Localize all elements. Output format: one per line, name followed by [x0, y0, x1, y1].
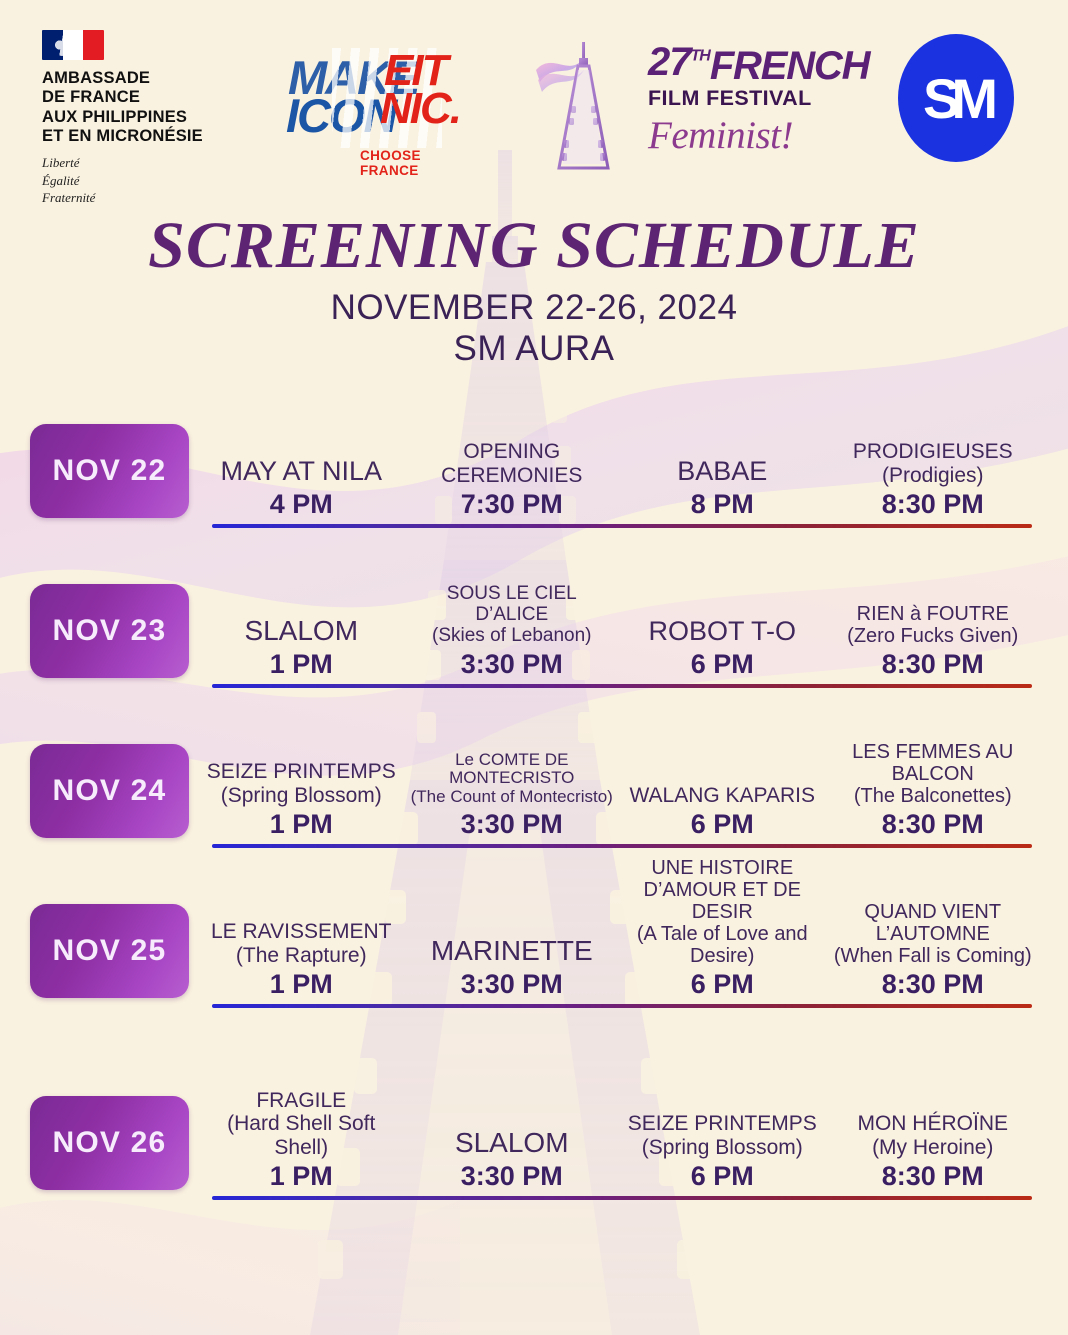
festival-feminist-tagline: Feminist! [648, 113, 843, 158]
film-subtitle: (The Balconettes) [832, 785, 1035, 807]
row-divider [212, 1004, 1032, 1008]
film-title: SEIZE PRINTEMPS [621, 1112, 824, 1135]
film-time: 6 PM [621, 968, 824, 1000]
date-badge[interactable]: NOV 26 [30, 1096, 189, 1190]
embassy-line-2: DE FRANCE [42, 88, 252, 107]
film-subtitle: (Spring Blossom) [621, 1136, 824, 1159]
sponsor-logo-bar: AMBASSADE DE FRANCE AUX PHILIPPINES ET E… [0, 0, 1068, 190]
film-title: FRAGILE [200, 1089, 403, 1112]
film-title: MAY AT NILA [200, 457, 403, 487]
motto-egalite: Égalité [42, 172, 252, 190]
film-time: 4 PM [200, 488, 403, 520]
french-flag-icon [42, 30, 104, 60]
page-title: SCREENING SCHEDULE [0, 212, 1068, 281]
film-entry[interactable]: WALANG KAPARIS6 PM [617, 784, 828, 840]
film-subtitle: (Skies of Lebanon) [411, 626, 614, 647]
edition-suffix: TH [691, 48, 710, 65]
festival-eiffel-tower-icon [530, 36, 640, 176]
embassy-motto: Liberté Égalité Fraternité [42, 154, 252, 207]
film-list: SLALOM1 PMSOUS LE CIEL D’ALICE(Skies of … [196, 584, 1038, 680]
film-entry[interactable]: QUAND VIENT L’AUTOMNE(When Fall is Comin… [828, 901, 1039, 1000]
edition-num: 27 [648, 40, 691, 84]
film-title: PRODIGIEUSES [832, 440, 1035, 463]
film-time: 1 PM [200, 808, 403, 840]
film-time: 1 PM [200, 1160, 403, 1192]
date-badge[interactable]: NOV 25 [30, 904, 189, 998]
film-time: 3:30 PM [411, 968, 614, 1000]
film-title: ROBOT T-O [621, 617, 824, 647]
film-time: 6 PM [621, 648, 824, 680]
film-subtitle: (When Fall is Coming) [832, 945, 1035, 967]
film-entry[interactable]: SLALOM3:30 PM [407, 1128, 618, 1192]
film-subtitle: (The Rapture) [200, 944, 403, 967]
film-time: 3:30 PM [411, 1160, 614, 1192]
film-entry[interactable]: SEIZE PRINTEMPS(Spring Blossom)6 PM [617, 1112, 828, 1192]
film-time: 1 PM [200, 968, 403, 1000]
sm-circle-shape: SM [898, 34, 1014, 162]
date-badge[interactable]: NOV 24 [30, 744, 189, 838]
sm-letters: SM [898, 34, 1014, 162]
date-badge[interactable]: NOV 22 [30, 424, 189, 518]
film-subtitle: (The Count of Montecristo) [411, 788, 614, 807]
film-subtitle: (Hard Shell Soft Shell) [200, 1112, 403, 1158]
french-embassy-logo: AMBASSADE DE FRANCE AUX PHILIPPINES ET E… [42, 30, 252, 207]
make-it-iconic-logo: MAKE ICON EIT NIC. CHOOSE FRANCE [288, 52, 478, 172]
film-entry[interactable]: BABAE8 PM [617, 457, 828, 520]
choose-france-tagline: CHOOSE FRANCE [360, 148, 478, 178]
film-title: OPENING CEREMONIES [411, 440, 614, 486]
film-time: 8:30 PM [832, 488, 1035, 520]
schedule-day-row: NOV 25LE RAVISSEMENT(The Rapture)1 PMMAR… [0, 904, 1068, 1054]
iconic-word-nic: NIC. [380, 84, 460, 134]
film-time: 6 PM [621, 808, 824, 840]
film-time: 1 PM [200, 648, 403, 680]
embassy-line-1: AMBASSADE [42, 69, 252, 88]
film-time: 8:30 PM [832, 808, 1035, 840]
film-time: 3:30 PM [411, 808, 614, 840]
film-title: MARINETTE [411, 936, 614, 967]
film-entry[interactable]: SOUS LE CIEL D’ALICE(Skies of Lebanon)3:… [407, 584, 618, 680]
film-entry[interactable]: OPENING CEREMONIES7:30 PM [407, 440, 618, 520]
motto-liberte: Liberté [42, 154, 252, 172]
film-subtitle: (A Tale of Love and Desire) [621, 923, 824, 967]
film-title: WALANG KAPARIS [621, 784, 824, 807]
film-entry[interactable]: FRAGILE(Hard Shell Soft Shell)1 PM [196, 1089, 407, 1192]
film-subtitle: (My Heroine) [832, 1136, 1035, 1159]
film-time: 7:30 PM [411, 488, 614, 520]
film-title: SEIZE PRINTEMPS [200, 760, 403, 783]
film-title: LES FEMMES AU BALCON [832, 741, 1035, 785]
film-title: RIEN à FOUTRE [832, 603, 1035, 625]
schedule-day-row: NOV 22MAY AT NILA4 PMOPENING CEREMONIES7… [0, 424, 1068, 574]
film-entry[interactable]: ROBOT T-O6 PM [617, 617, 828, 680]
schedule-day-row: NOV 23SLALOM1 PMSOUS LE CIEL D’ALICE(Ski… [0, 584, 1068, 734]
film-subtitle: (Prodigies) [832, 464, 1035, 487]
film-title: BABAE [621, 457, 824, 487]
festival-edition-number: 27TH [648, 44, 710, 81]
embassy-name: AMBASSADE DE FRANCE AUX PHILIPPINES ET E… [42, 69, 252, 146]
film-entry[interactable]: RIEN à FOUTRE(Zero Fucks Given)8:30 PM [828, 603, 1039, 680]
film-title: UNE HISTOIRE D’AMOUR ET DE DESIR [621, 857, 824, 923]
film-list: FRAGILE(Hard Shell Soft Shell)1 PMSLALOM… [196, 1096, 1038, 1192]
schedule-day-row: NOV 26FRAGILE(Hard Shell Soft Shell)1 PM… [0, 1096, 1068, 1246]
screening-schedule-poster: AMBASSADE DE FRANCE AUX PHILIPPINES ET E… [0, 0, 1068, 1335]
festival-film-festival-line: FILM FESTIVAL [648, 86, 843, 111]
film-title: QUAND VIENT L’AUTOMNE [832, 901, 1035, 945]
film-list: SEIZE PRINTEMPS(Spring Blossom)1 PMLe CO… [196, 744, 1038, 840]
film-title: SOUS LE CIEL D’ALICE [411, 584, 614, 626]
embassy-line-3: AUX PHILIPPINES [42, 108, 252, 127]
film-title: SLALOM [200, 616, 403, 647]
film-entry[interactable]: LE RAVISSEMENT(The Rapture)1 PM [196, 920, 407, 1000]
film-entry[interactable]: MAY AT NILA4 PM [196, 457, 407, 520]
festival-wordmark: 27TH FRENCH FILM FESTIVAL Feminist! [648, 44, 843, 158]
motto-fraternite: Fraternité [42, 189, 252, 207]
venue-name: SM AURA [0, 328, 1068, 369]
film-entry[interactable]: LES FEMMES AU BALCON(The Balconettes)8:3… [828, 741, 1039, 840]
date-range: NOVEMBER 22-26, 2024 [0, 287, 1068, 328]
film-list: MAY AT NILA4 PMOPENING CEREMONIES7:30 PM… [196, 424, 1038, 520]
row-divider [212, 524, 1032, 528]
film-time: 8:30 PM [832, 968, 1035, 1000]
film-list: LE RAVISSEMENT(The Rapture)1 PMMARINETTE… [196, 904, 1038, 1000]
film-time: 8:30 PM [832, 648, 1035, 680]
film-title: MON HÉROÏNE [832, 1112, 1035, 1135]
film-entry[interactable]: SLALOM1 PM [196, 616, 407, 680]
film-entry[interactable]: PRODIGIEUSES(Prodigies)8:30 PM [828, 440, 1039, 520]
film-subtitle: (Zero Fucks Given) [832, 625, 1035, 647]
schedule-day-row: NOV 24SEIZE PRINTEMPS(Spring Blossom)1 P… [0, 744, 1068, 894]
festival-word-french: FRENCH [710, 44, 869, 89]
film-time: 8 PM [621, 488, 824, 520]
row-divider [212, 684, 1032, 688]
film-title: LE RAVISSEMENT [200, 920, 403, 943]
sm-logo: SM [898, 34, 1014, 162]
row-divider [212, 844, 1032, 848]
date-badge[interactable]: NOV 23 [30, 584, 189, 678]
film-title: Le COMTE DE MONTECRISTO [411, 751, 614, 788]
film-subtitle: (Spring Blossom) [200, 784, 403, 807]
row-divider [212, 1196, 1032, 1200]
film-entry[interactable]: UNE HISTOIRE D’AMOUR ET DE DESIR(A Tale … [617, 857, 828, 1000]
film-entry[interactable]: MARINETTE3:30 PM [407, 936, 618, 1000]
film-time: 6 PM [621, 1160, 824, 1192]
film-time: 3:30 PM [411, 648, 614, 680]
embassy-line-4: ET EN MICRONÉSIE [42, 127, 252, 146]
film-entry[interactable]: SEIZE PRINTEMPS(Spring Blossom)1 PM [196, 760, 407, 840]
film-entry[interactable]: Le COMTE DE MONTECRISTO(The Count of Mon… [407, 751, 618, 840]
title-block: SCREENING SCHEDULE NOVEMBER 22-26, 2024 … [0, 212, 1068, 369]
film-title: SLALOM [411, 1128, 614, 1159]
film-entry[interactable]: MON HÉROÏNE(My Heroine)8:30 PM [828, 1112, 1039, 1192]
film-time: 8:30 PM [832, 1160, 1035, 1192]
